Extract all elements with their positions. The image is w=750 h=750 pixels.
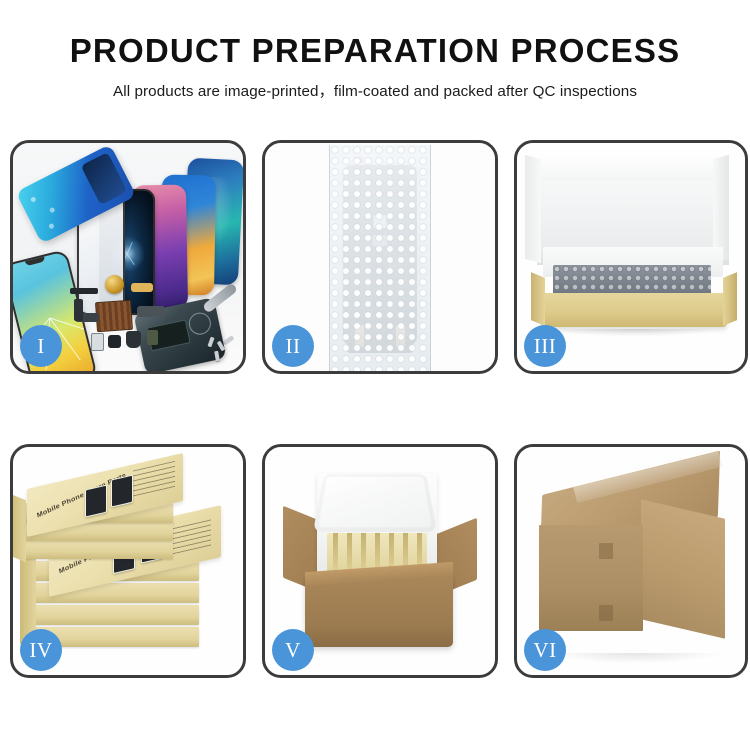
box-stack: Mobile Phone Spare Parts Mobile Phone Sp… xyxy=(19,477,243,657)
page-title: PRODUCT PREPARATION PROCESS xyxy=(0,34,750,69)
process-step-panel-2: II xyxy=(262,140,498,374)
yellow-box-tray xyxy=(541,293,727,327)
carton-tab-lower xyxy=(599,605,613,621)
step-badge-6: VI xyxy=(524,629,566,671)
process-step-panel-6: VI xyxy=(514,444,748,678)
connector-chip-grid xyxy=(95,300,133,332)
speaker-part xyxy=(126,331,141,348)
phone-notch-icon xyxy=(25,256,46,266)
bubble-wrap-bag xyxy=(329,145,431,371)
carton-shadow xyxy=(551,653,721,663)
step-badge-3: III xyxy=(524,325,566,367)
process-step-panel-4: Mobile Phone Spare Parts Mobile Phone Sp… xyxy=(10,444,246,678)
gold-flex-part xyxy=(131,283,153,292)
process-step-panel-1: I xyxy=(10,140,246,374)
step-badge-4: IV xyxy=(20,629,62,671)
carton-side-face xyxy=(641,499,725,638)
box-shadow xyxy=(551,329,719,337)
carton-body xyxy=(305,575,453,647)
page-subtitle: All products are image-printed，film-coat… xyxy=(0,79,750,101)
flex-cable-part xyxy=(70,288,98,294)
sim-tray-part xyxy=(91,333,104,351)
copper-coil-part xyxy=(105,275,124,294)
step-badge-2: II xyxy=(272,325,314,367)
step-badge-1: I xyxy=(20,325,62,367)
bracket-part xyxy=(74,299,83,321)
foam-box-lid xyxy=(313,474,437,532)
carton-tab-upper xyxy=(599,543,613,559)
camera-module-part xyxy=(108,335,121,348)
step-badge-5: V xyxy=(272,629,314,671)
process-step-panel-3: III xyxy=(514,140,748,374)
battery-connector-part xyxy=(147,330,158,345)
carton-front-face xyxy=(539,525,643,631)
process-step-panel-5: V xyxy=(262,444,498,678)
page-header: PRODUCT PREPARATION PROCESS All products… xyxy=(0,0,750,101)
screws-group xyxy=(207,335,237,361)
flex-cable-part xyxy=(137,306,165,317)
process-steps-grid: I II I xyxy=(10,140,748,678)
